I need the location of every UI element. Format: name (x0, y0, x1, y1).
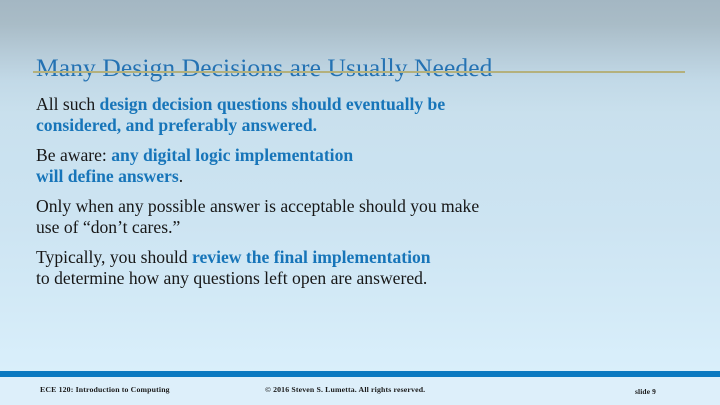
title-underline-rule (33, 71, 685, 73)
slide-canvas: Many Design Decisions are Usually Needed… (0, 0, 720, 405)
body-paragraph-1: All such design decision questions shoul… (36, 94, 496, 135)
slide-body: All such design decision questions shoul… (36, 94, 506, 288)
paragraph-3-run-plain: Only when any possible answer is accepta… (36, 196, 479, 237)
footer-copyright-label: © 2016 Steven S. Lumetta. All rights res… (265, 385, 425, 394)
paragraph-2-run-period: . (179, 166, 183, 186)
slide-footer: ECE 120: Introduction to Computing © 201… (0, 377, 720, 405)
body-paragraph-4: Typically, you should review the final i… (36, 247, 436, 288)
footer-course-label: ECE 120: Introduction to Computing (40, 385, 170, 394)
body-paragraph-3: Only when any possible answer is accepta… (36, 196, 486, 237)
paragraph-4-run-plain: Typically, you should (36, 247, 192, 267)
paragraph-2-run-plain: Be aware: (36, 145, 111, 165)
paragraph-4-run-tail: to determine how any questions left open… (36, 268, 427, 288)
paragraph-1-run-plain: All such (36, 94, 100, 114)
body-paragraph-2: Be aware: any digital logic implementati… (36, 145, 366, 186)
page-title: Many Design Decisions are Usually Needed (36, 53, 696, 83)
footer-slide-number: slide 9 (635, 387, 656, 396)
paragraph-4-run-highlight: review the final implementation (192, 247, 431, 267)
